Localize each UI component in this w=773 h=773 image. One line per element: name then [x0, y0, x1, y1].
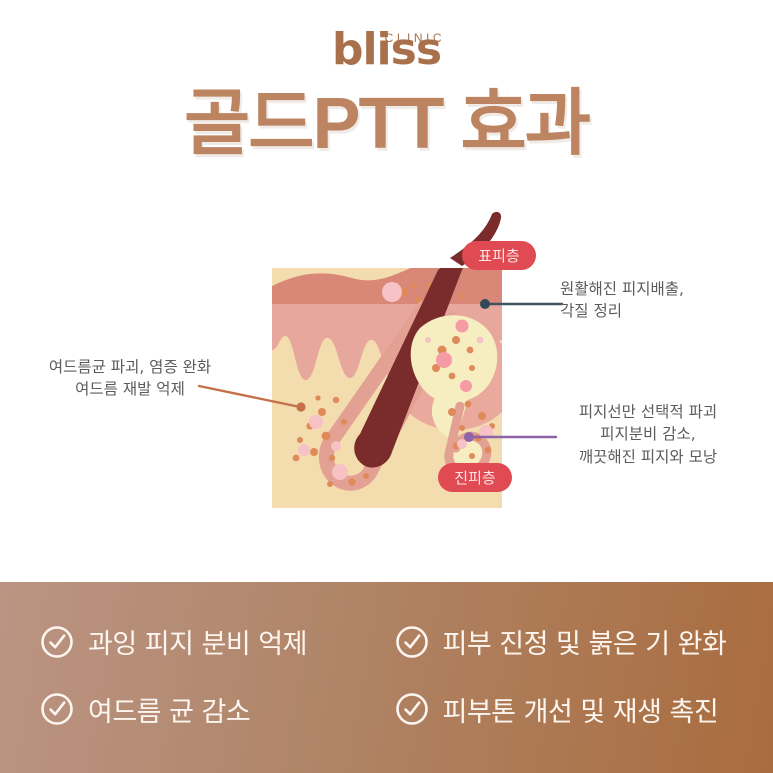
benefits-band: 과잉 피지 분비 억제 피부 진정 및 붉은 기 완화 여드름 균 감소: [0, 582, 773, 773]
sebaceous-gland: [411, 315, 498, 402]
callout-bottom-right-text: 피지선만 선택적 파괴 피지분비 감소, 깨끗해진 피지와 모낭: [525, 401, 771, 468]
benefit-item-3: 여드름 균 감소: [40, 690, 395, 729]
callout-left-text: 여드름균 파괴, 염증 완화 여드름 재발 억제: [10, 356, 250, 401]
page-title: 골드PTT 효과: [0, 88, 773, 160]
benefits-grid: 과잉 피지 분비 억제 피부 진정 및 붉은 기 완화 여드름 균 감소: [0, 582, 773, 773]
badge-dermis-label: 진피층: [454, 469, 495, 487]
check-circle-icon: [395, 625, 429, 659]
infographic-page: bliss CLINIC 골드PTT 효과: [0, 0, 773, 773]
check-circle-icon: [40, 625, 74, 659]
benefit-item-2: 피부 진정 및 붉은 기 완화: [395, 622, 750, 661]
epidermis-pink-blob: [382, 282, 402, 302]
check-circle-icon: [395, 692, 429, 726]
benefit-label: 과잉 피지 분비 억제: [88, 622, 307, 661]
brand-logo: bliss CLINIC: [0, 28, 773, 72]
follicle-base-bulb: [332, 464, 348, 480]
benefit-label: 피부 진정 및 붉은 기 완화: [443, 622, 727, 661]
benefit-label: 여드름 균 감소: [88, 690, 250, 729]
brand-tagline: CLINIC: [385, 32, 445, 44]
benefit-label: 피부톤 개선 및 재생 촉진: [443, 690, 719, 729]
check-circle-icon: [40, 692, 74, 726]
brand-logo-wrap: bliss CLINIC: [332, 28, 441, 72]
badge-dermis: 진피층: [438, 463, 512, 492]
benefit-item-1: 과잉 피지 분비 억제: [40, 622, 395, 661]
callout-top-right-text: 원활해진 피지배출, 각질 정리: [560, 278, 765, 323]
badge-epidermis: 표피층: [462, 241, 536, 270]
benefit-item-4: 피부톤 개선 및 재생 촉진: [395, 690, 750, 729]
badge-epidermis-label: 표피층: [478, 247, 519, 265]
